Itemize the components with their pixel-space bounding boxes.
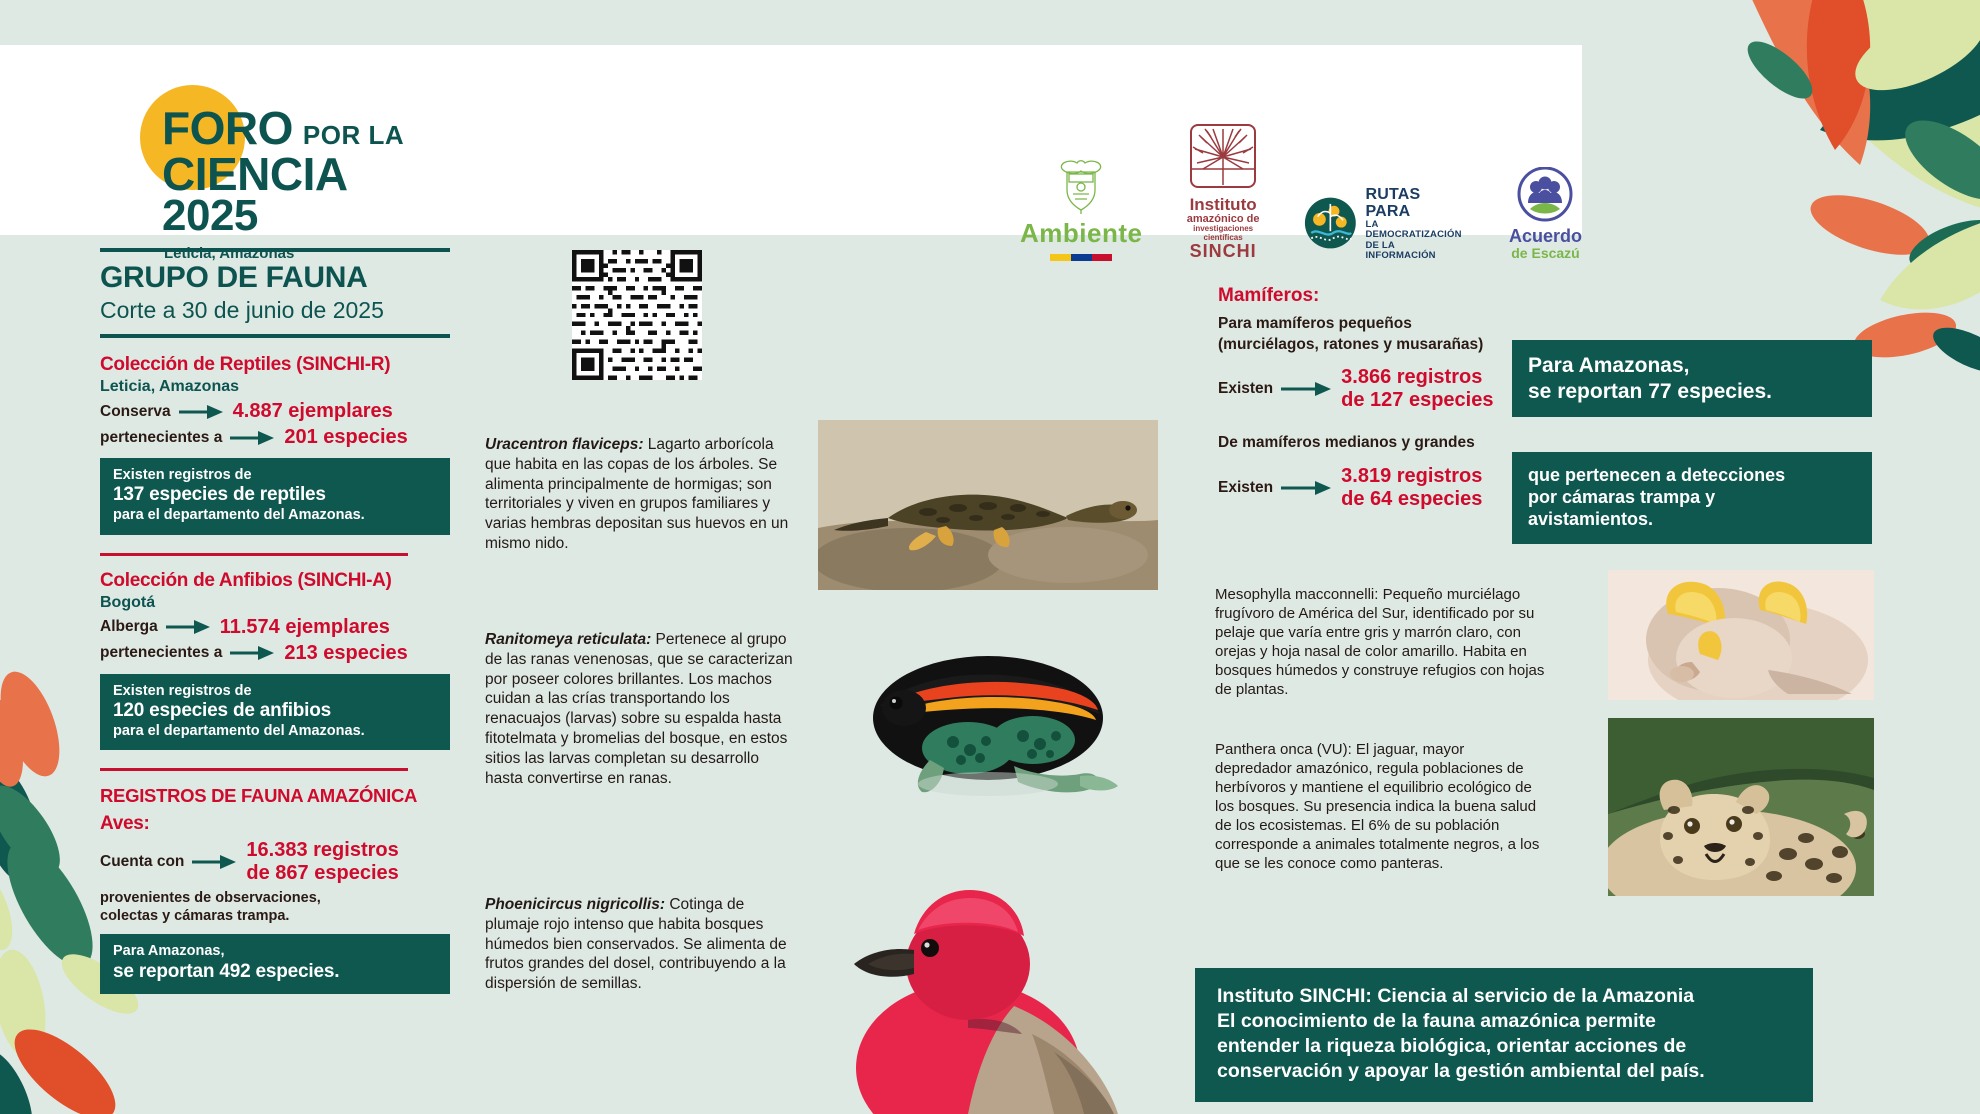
mamiferos-big-stat: Existen 3.819 registros de 64 especies	[1218, 465, 1548, 511]
footer-line4: conservación y apoyar la gestión ambient…	[1217, 1059, 1791, 1084]
mamiferos-big-lead: De mamíferos medianos y grandes	[1218, 434, 1548, 453]
mamiferos-small-label: Existen	[1218, 380, 1273, 398]
reptiles-stat-1: Conserva 4.887 ejemplares	[100, 400, 450, 423]
sinchi-logo: Instituto amazónico de investigaciones c…	[1184, 123, 1261, 261]
anfibios-stat-1-label: Alberga	[100, 618, 158, 636]
frog-photo	[818, 608, 1158, 828]
mamiferos-big-value-2: de 64 especies	[1341, 488, 1482, 511]
colombia-flag-icon	[1050, 254, 1112, 261]
arrow-right-icon	[192, 854, 238, 870]
anfibios-stat-1: Alberga 11.574 ejemplares	[100, 616, 450, 639]
aves-box-line2: se reportan 492 especies.	[113, 961, 437, 984]
anfibios-stat-1-value: 11.574 ejemplares	[220, 616, 390, 639]
mamiferos-big-label: Existen	[1218, 479, 1273, 497]
reptiles-section: Colección de Reptiles (SINCHI-R) Leticia…	[100, 354, 450, 535]
aves-note-line2: colectas y cámaras trampa.	[100, 907, 450, 925]
reptiles-box-line2: 137 especies de reptiles	[113, 484, 437, 507]
logo-place-text: Leticia, Amazonas	[164, 245, 294, 262]
registros-section: REGISTROS DE FAUNA AMAZÓNICA Aves: Cuent…	[100, 785, 450, 993]
aves-stat-value-2: de 867 especies	[246, 862, 398, 885]
reptiles-box-line1: Existen registros de	[113, 467, 437, 484]
anfibios-highlight-box: Existen registros de 120 especies de anf…	[100, 674, 450, 751]
species-description-lizard: Uracentron flaviceps: Lagarto arborícola…	[485, 435, 795, 554]
arrow-right-icon	[1281, 381, 1333, 397]
reptiles-stat-1-value: 4.887 ejemplares	[233, 400, 393, 423]
species-name-jaguar: Panthera onca (VU):	[1215, 741, 1352, 758]
reptiles-stat-2: pertenecientes a 201 especies	[100, 426, 450, 449]
escazu-logo: Acuerdo de Escazú	[1509, 167, 1582, 261]
page-title: GRUPO DE FAUNA	[100, 261, 450, 295]
sinchi-line1: Instituto	[1184, 196, 1261, 214]
anfibios-city: Bogotá	[100, 594, 450, 612]
escazu-line2: de Escazú	[1509, 246, 1582, 261]
escazu-people-icon	[1514, 167, 1576, 225]
reptiles-stat-2-value: 201 especies	[284, 426, 407, 449]
colombia-shield-icon	[1049, 154, 1113, 216]
divider-red-1	[100, 553, 408, 556]
amazonas-species-box: Para Amazonas, se reportan 77 especies.	[1512, 340, 1872, 417]
rutas-circle-icon	[1304, 194, 1357, 252]
aves-title: Aves:	[100, 813, 450, 835]
footer-highlight-box: Instituto SINCHI: Ciencia al servicio de…	[1195, 968, 1813, 1102]
arrow-right-icon	[230, 645, 276, 661]
aves-stat: Cuenta con 16.383 registros de 867 espec…	[100, 839, 450, 885]
reptiles-stat-2-label: pertenecientes a	[100, 429, 222, 447]
species-name-bird: Phoenicircus nigricollis:	[485, 896, 665, 913]
footer-line2: El conocimiento de la fauna amazónica pe…	[1217, 1009, 1791, 1034]
rutas-line3: DE LA INFORMACIÓN	[1365, 241, 1467, 262]
footer-line1: Instituto SINCHI: Ciencia al servicio de…	[1217, 984, 1791, 1009]
anfibios-stat-2-label: pertenecientes a	[100, 644, 222, 662]
mamiferos-big-value-1: 3.819 registros	[1341, 465, 1482, 488]
anfibios-stat-2: pertenecientes a 213 especies	[100, 642, 450, 665]
rutas-line2: LA DEMOCRATIZACIÓN	[1365, 220, 1467, 241]
detecciones-line3: avistamientos.	[1528, 509, 1856, 531]
arrow-right-icon	[230, 430, 276, 446]
amazonas-box-line2: se reportan 77 especies.	[1528, 379, 1856, 405]
mamiferos-title: Mamíferos:	[1218, 285, 1548, 307]
anfibios-box-line2: 120 especies de anfibios	[113, 700, 437, 723]
ambiente-label: Ambiente	[1020, 218, 1142, 249]
species-name-frog: Ranitomeya reticulata:	[485, 631, 651, 648]
aves-box-line1: Para Amazonas,	[113, 943, 437, 960]
anfibios-stat-2-value: 213 especies	[284, 642, 407, 665]
ambiente-logo: Ambiente	[1020, 154, 1142, 261]
mamiferos-small-value-1: 3.866 registros	[1341, 366, 1493, 389]
sinchi-tree-icon	[1187, 123, 1259, 193]
reptiles-stat-1-label: Conserva	[100, 403, 171, 421]
bird-photo	[818, 838, 1158, 1114]
escazu-line1: Acuerdo	[1509, 227, 1582, 246]
mamiferos-small-stat: Existen 3.866 registros de 127 especies	[1218, 366, 1548, 412]
page-subtitle: Corte a 30 de junio de 2025	[100, 297, 450, 324]
top-strip	[0, 0, 1582, 45]
reptiles-title: Colección de Reptiles (SINCHI-R)	[100, 354, 450, 376]
anfibios-section: Colección de Anfibios (SINCHI-A) Bogotá …	[100, 570, 450, 751]
anfibios-box-line3: para el departamento del Amazonas.	[113, 723, 437, 740]
species-text-lizard: Lagarto arborícola que habita en las cop…	[485, 436, 788, 552]
event-logo: FORO POR LA CIENCIA 2025 Leticia, Amazon…	[120, 63, 540, 238]
rutas-logo: RUTAS PARA LA DEMOCRATIZACIÓN DE LA INFO…	[1304, 186, 1467, 262]
partner-logos: Ambiente Instituto amazónico de	[1020, 123, 1582, 261]
aves-note-line1: provenientes de observaciones,	[100, 889, 450, 907]
logo-year-text: 2025	[162, 191, 258, 241]
aves-highlight-box: Para Amazonas, se reportan 492 especies.	[100, 934, 450, 993]
jaguar-photo	[1608, 718, 1874, 896]
reptiles-city: Leticia, Amazonas	[100, 378, 450, 396]
detecciones-line2: por cámaras trampa y	[1528, 487, 1856, 509]
arrow-right-icon	[1281, 480, 1333, 496]
right-column: Mamíferos: Para mamíferos pequeños (murc…	[1218, 285, 1548, 515]
registros-title: REGISTROS DE FAUNA AMAZÓNICA	[100, 785, 450, 807]
anfibios-box-line1: Existen registros de	[113, 683, 437, 700]
arrow-right-icon	[166, 619, 212, 635]
footer-line3: entender la riqueza biológica, orientar …	[1217, 1034, 1791, 1059]
detecciones-line1: que pertenecen a detecciones	[1528, 465, 1856, 487]
qr-code[interactable]	[572, 250, 702, 380]
mamiferos-small-lead-1: Para mamíferos pequeños	[1218, 315, 1548, 334]
species-description-frog: Ranitomeya reticulata: Pertenece al grup…	[485, 630, 795, 789]
detecciones-box: que pertenecen a detecciones por cámaras…	[1512, 452, 1872, 544]
reptiles-highlight-box: Existen registros de 137 especies de rep…	[100, 458, 450, 535]
species-description-bird: Phoenicircus nigricollis: Cotinga de plu…	[485, 895, 795, 994]
arrow-right-icon	[179, 404, 225, 420]
reptiles-box-line3: para el departamento del Amazonas.	[113, 507, 437, 524]
sinchi-line3: investigaciones científicas	[1184, 225, 1261, 242]
infographic-page: FORO POR LA CIENCIA 2025 Leticia, Amazon…	[0, 0, 1980, 1114]
left-column: GRUPO DE FAUNA Corte a 30 de junio de 20…	[100, 248, 450, 994]
amazonas-box-line1: Para Amazonas,	[1528, 353, 1856, 379]
mamiferos-small-lead-2: (murciélagos, ratones y musarañas)	[1218, 336, 1548, 355]
species-text-jaguar: El jaguar, mayor depredador amazónico, r…	[1215, 741, 1539, 872]
species-name-bat: Mesophylla macconnelli:	[1215, 586, 1378, 603]
rutas-line1: RUTAS PARA	[1365, 186, 1467, 221]
header-bar: FORO POR LA CIENCIA 2025 Leticia, Amazon…	[0, 45, 1582, 235]
aves-stat-value-1: 16.383 registros	[246, 839, 398, 862]
aves-stat-label: Cuenta con	[100, 853, 184, 871]
mamiferos-small-value-2: de 127 especies	[1341, 389, 1493, 412]
species-description-jaguar: Panthera onca (VU): El jaguar, mayor dep…	[1215, 740, 1545, 873]
divider-red-2	[100, 768, 408, 771]
sinchi-line4: SINCHI	[1184, 242, 1261, 261]
bat-photo	[1608, 570, 1874, 700]
species-description-bat: Mesophylla macconnelli: Pequeño murciéla…	[1215, 585, 1545, 699]
species-text-frog: Pertenece al grupo de las ranas venenosa…	[485, 631, 793, 787]
lizard-photo	[818, 420, 1158, 590]
anfibios-title: Colección de Anfibios (SINCHI-A)	[100, 570, 450, 592]
species-name-lizard: Uracentron flaviceps:	[485, 436, 644, 453]
divider-under-title	[100, 334, 450, 338]
